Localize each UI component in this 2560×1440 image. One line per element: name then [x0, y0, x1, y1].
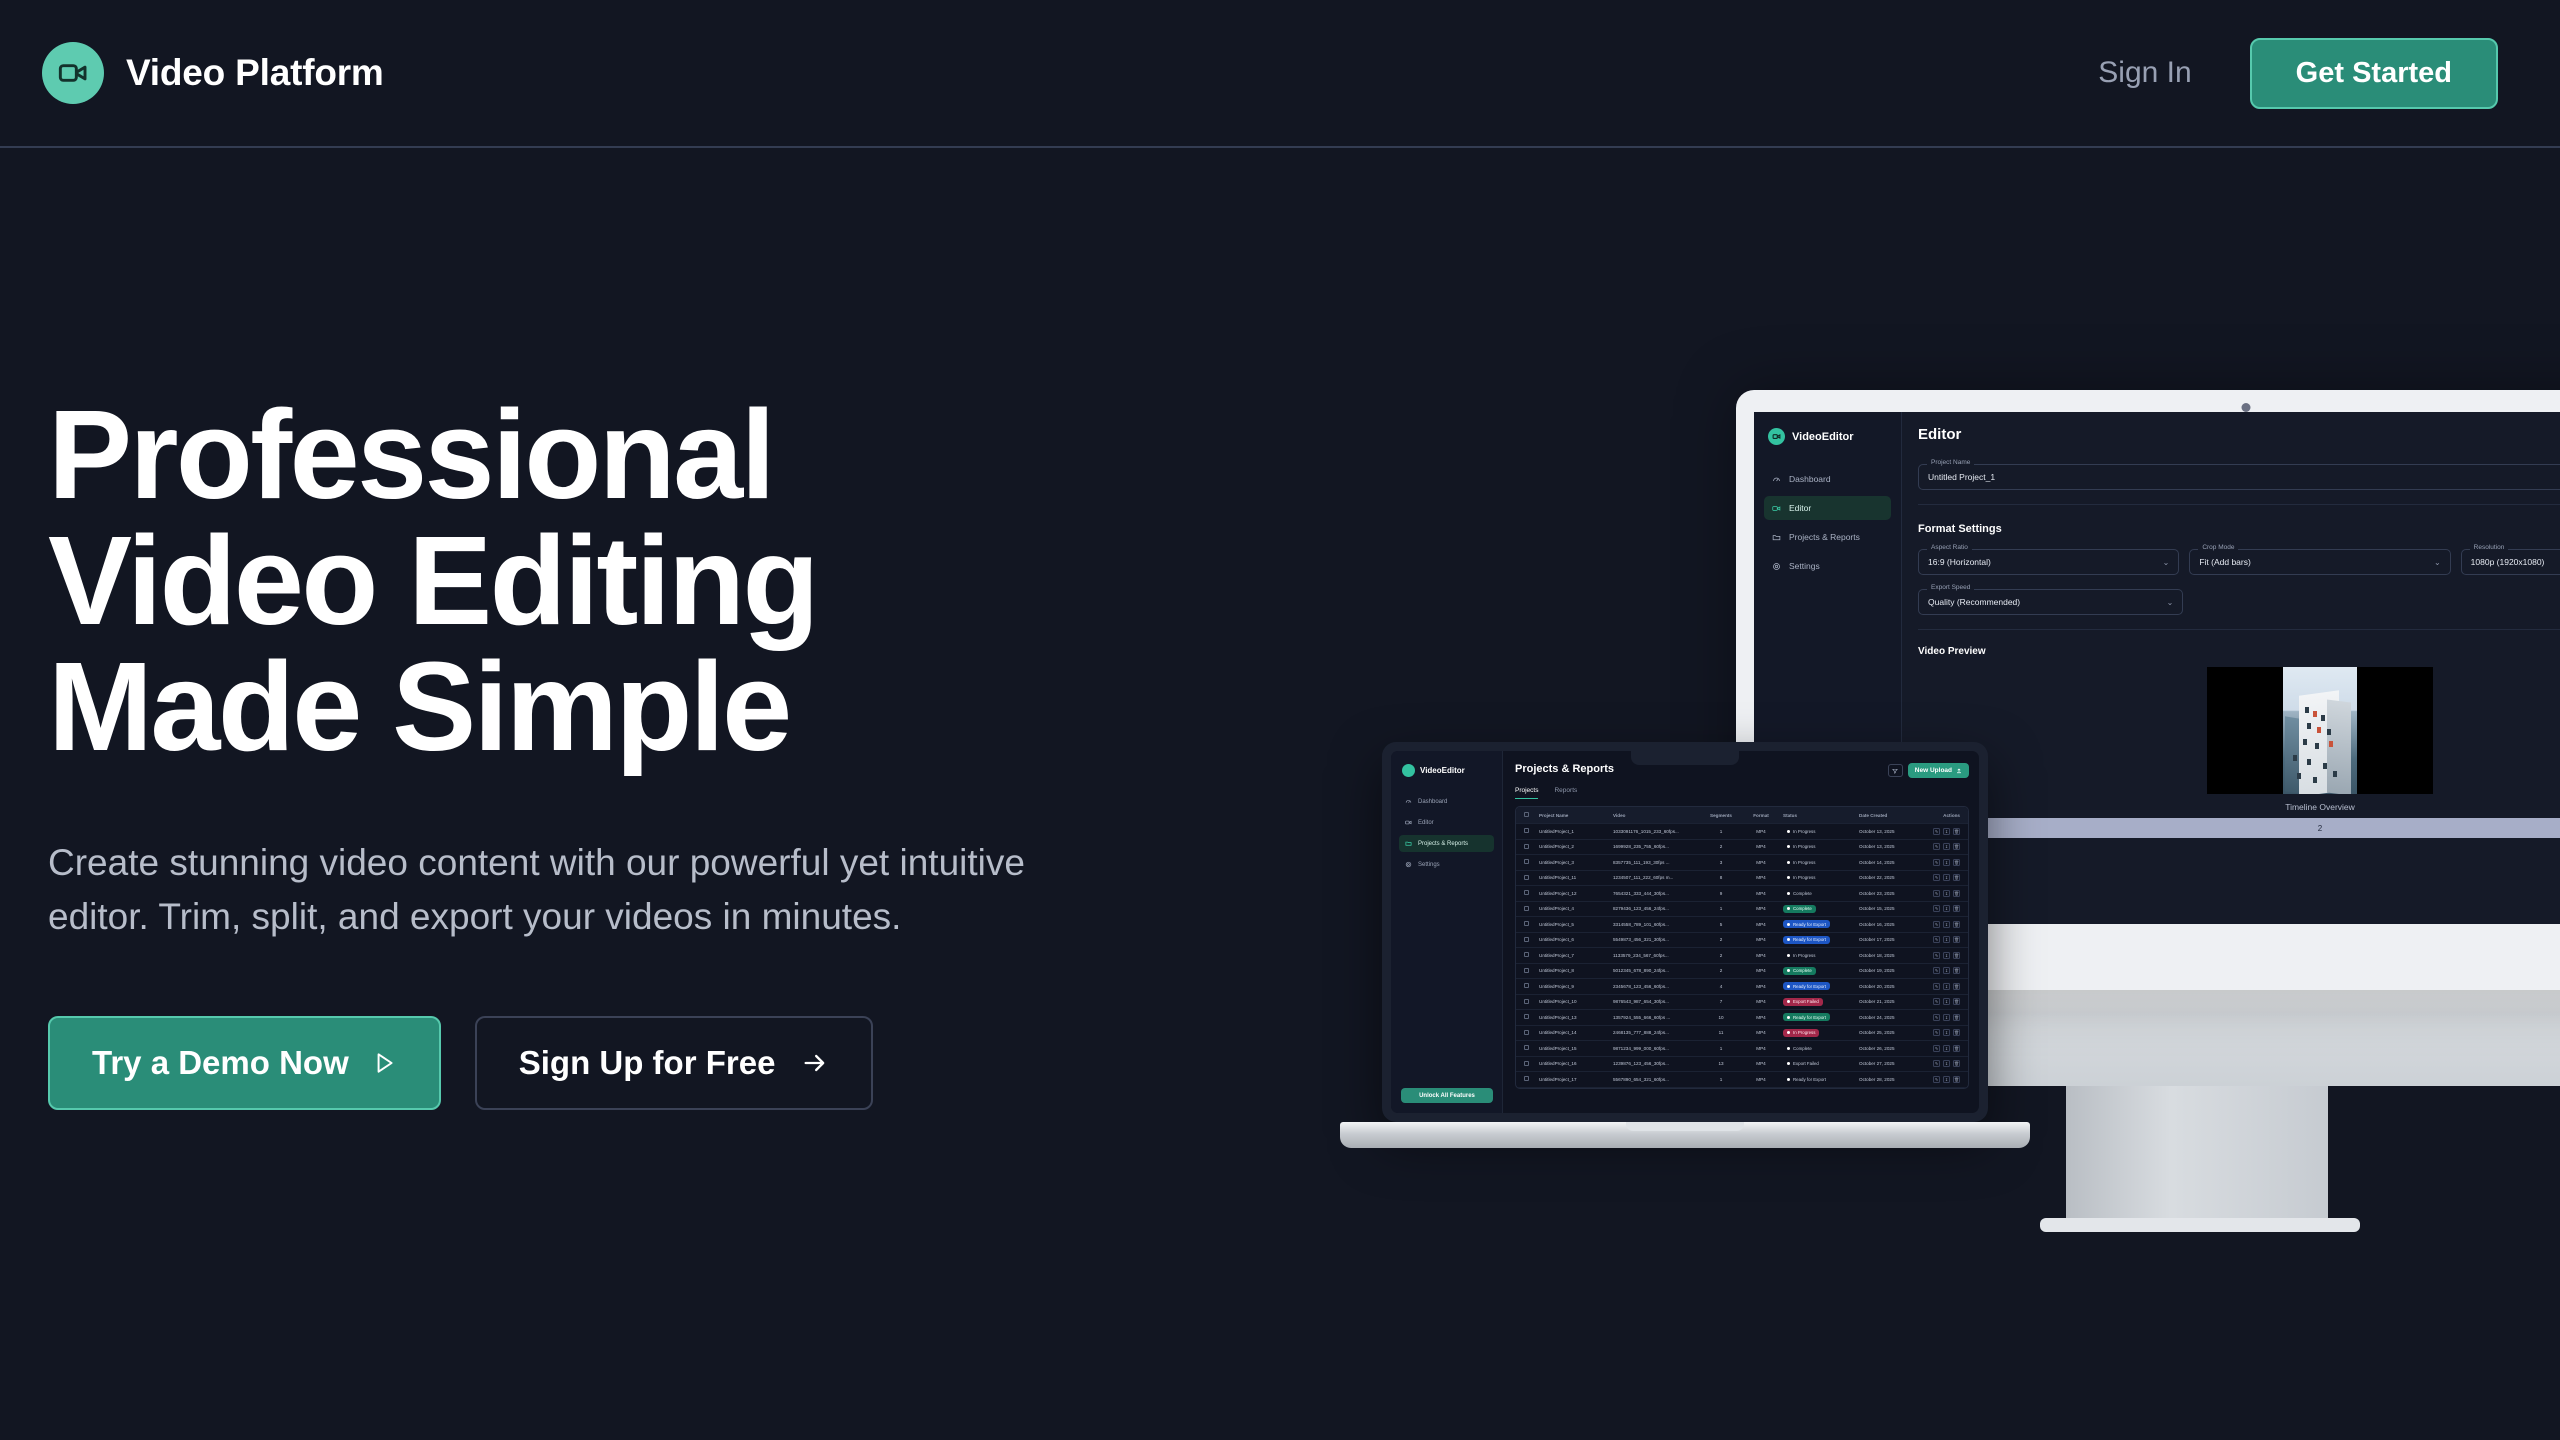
aspect-ratio-select[interactable]: Aspect Ratio 16:9 (Horizontal) ⌄	[1918, 549, 2179, 575]
edit-icon[interactable]: ✎	[1933, 967, 1940, 974]
cell-project-name: UntitledProject_6	[1536, 937, 1610, 942]
row-checkbox[interactable]	[1516, 1061, 1536, 1067]
cell-status: In Progress	[1780, 951, 1856, 959]
status-badge: Ready for Export	[1783, 920, 1830, 928]
cell-date-created: October 16, 2025	[1856, 922, 1918, 927]
table-row[interactable]: UntitledProject_38357735_111_193_30fps .…	[1516, 855, 1968, 871]
projects-tabs: Projects Reports	[1515, 787, 1969, 799]
cell-segments: 2	[1700, 968, 1742, 973]
cell-segments: 9	[1700, 891, 1742, 896]
cell-date-created: October 21, 2025	[1856, 999, 1918, 1004]
heading-line-2: Video Editing	[48, 518, 1228, 644]
laptop-base-notch	[1626, 1122, 1744, 1131]
cell-video: 1699928_235_755_60fps...	[1610, 844, 1700, 849]
cell-video: 2345678_123_456_60fps...	[1610, 984, 1700, 989]
upload-icon	[1956, 768, 1962, 774]
projects-sidebar: VideoEditor Dashboard	[1391, 751, 1503, 1113]
cell-status: In Progress	[1780, 843, 1856, 851]
table-row[interactable]: UntitledProject_111234507_111_222_60fps …	[1516, 871, 1968, 887]
row-checkbox[interactable]	[1516, 921, 1536, 927]
cell-date-created: October 23, 2025	[1856, 891, 1918, 896]
table-row[interactable]: UntitledProject_53314558_789_101_60fps..…	[1516, 917, 1968, 933]
editor-brand-name: VideoEditor	[1792, 431, 1854, 443]
download-icon[interactable]: ↧	[1943, 952, 1950, 959]
table-row[interactable]: UntitledProject_85012345_678_890_24fps..…	[1516, 964, 1968, 980]
resolution-label: Resolution	[2470, 544, 2509, 551]
cell-segments: 2	[1700, 844, 1742, 849]
cell-video: 1033091176_1015_233_60fps...	[1610, 829, 1700, 834]
download-icon[interactable]: ↧	[1943, 843, 1950, 850]
cell-date-created: October 14, 2025	[1856, 860, 1918, 865]
table-row[interactable]: UntitledProject_127654321_333_444_30fps.…	[1516, 886, 1968, 902]
export-speed-value: Quality (Recommended)	[1928, 597, 2020, 607]
row-checkbox[interactable]	[1516, 999, 1536, 1005]
edit-icon[interactable]: ✎	[1933, 828, 1940, 835]
cell-date-created: October 24, 2025	[1856, 1015, 1918, 1020]
cell-video: 3314558_789_101_60fps...	[1610, 922, 1700, 927]
download-icon[interactable]: ↧	[1943, 859, 1950, 866]
cell-status: In Progress	[1780, 827, 1856, 835]
edit-icon[interactable]: ✎	[1933, 874, 1940, 881]
cell-segments: 1	[1700, 829, 1742, 834]
trash-icon[interactable]: 🗑	[1953, 1060, 1960, 1067]
get-started-button[interactable]: Get Started	[2250, 38, 2498, 109]
table-row[interactable]: UntitledProject_131357924_555_666_60fps …	[1516, 1010, 1968, 1026]
cell-status: Ready for Export	[1780, 1075, 1856, 1083]
sidebar-label: Settings	[1789, 561, 1820, 571]
cell-status: Ready for Export	[1780, 920, 1856, 928]
cell-project-name: UntitledProject_14	[1536, 1030, 1610, 1035]
trash-icon[interactable]: 🗑	[1953, 998, 1960, 1005]
column-status[interactable]: Status	[1780, 813, 1856, 818]
edit-icon[interactable]: ✎	[1933, 936, 1940, 943]
table-row[interactable]: UntitledProject_175567890_654_321_60fps.…	[1516, 1072, 1968, 1088]
format-settings-row-1: Aspect Ratio 16:9 (Horizontal) ⌄ Crop Mo…	[1918, 535, 2560, 575]
status-badge: Ready for Export	[1783, 936, 1830, 944]
sidebar-label: Dashboard	[1418, 799, 1447, 805]
cell-format: MP4	[1742, 1077, 1780, 1082]
trash-icon[interactable]: 🗑	[1953, 890, 1960, 897]
column-video[interactable]: Video	[1610, 813, 1700, 818]
status-badge: In Progress	[1783, 874, 1819, 882]
cell-actions: ✎↧🗑	[1918, 998, 1964, 1005]
cell-actions: ✎↧🗑	[1918, 983, 1964, 990]
status-badge: In Progress	[1783, 827, 1819, 835]
download-icon[interactable]: ↧	[1943, 983, 1950, 990]
trash-icon[interactable]: 🗑	[1953, 1029, 1960, 1036]
trash-icon[interactable]: 🗑	[1953, 843, 1960, 850]
sidebar-item-dashboard[interactable]: Dashboard	[1764, 467, 1891, 491]
row-checkbox[interactable]	[1516, 844, 1536, 850]
cell-actions: ✎↧🗑	[1918, 1060, 1964, 1067]
cell-format: MP4	[1742, 953, 1780, 958]
cell-actions: ✎↧🗑	[1918, 921, 1964, 928]
download-icon[interactable]: ↧	[1943, 1014, 1950, 1021]
cell-actions: ✎↧🗑	[1918, 874, 1964, 881]
cell-segments: 1	[1700, 1046, 1742, 1051]
cell-format: MP4	[1742, 922, 1780, 927]
projects-page-title: Projects & Reports	[1515, 763, 1614, 775]
cell-date-created: October 22, 2025	[1856, 875, 1918, 880]
cell-project-name: UntitledProject_2	[1536, 844, 1610, 849]
table-row[interactable]: UntitledProject_92345678_123_456_60fps..…	[1516, 979, 1968, 995]
column-format[interactable]: Format	[1742, 813, 1780, 818]
cell-format: MP4	[1742, 860, 1780, 865]
laptop-notch	[1631, 751, 1739, 765]
gear-icon	[1772, 562, 1781, 571]
brand-name: Video Platform	[126, 52, 384, 94]
table-row[interactable]: UntitledProject_48279436_123_456_24fps..…	[1516, 902, 1968, 918]
status-badge: In Progress	[1783, 1029, 1819, 1037]
sign-in-link[interactable]: Sign In	[2098, 56, 2191, 90]
trash-icon[interactable]: 🗑	[1953, 1014, 1960, 1021]
video-camera-icon	[1768, 428, 1785, 445]
cell-status: Export Failed	[1780, 998, 1856, 1006]
cell-segments: 13	[1700, 1061, 1742, 1066]
cell-format: MP4	[1742, 1061, 1780, 1066]
select-all-checkbox[interactable]	[1516, 812, 1536, 818]
cell-status: Ready for Export	[1780, 1013, 1856, 1021]
folder-icon	[1772, 533, 1781, 542]
cell-format: MP4	[1742, 1030, 1780, 1035]
aspect-ratio-value: 16:9 (Horizontal)	[1928, 557, 1991, 567]
cell-actions: ✎↧🗑	[1918, 1076, 1964, 1083]
status-badge: Complete	[1783, 967, 1816, 975]
new-upload-label: New Upload	[1915, 767, 1952, 774]
trash-icon[interactable]: 🗑	[1953, 952, 1960, 959]
download-icon[interactable]: ↧	[1943, 874, 1950, 881]
cell-date-created: October 18, 2025	[1856, 953, 1918, 958]
edit-icon[interactable]: ✎	[1933, 1045, 1940, 1052]
crop-mode-label: Crop Mode	[2198, 544, 2238, 551]
cell-actions: ✎↧🗑	[1918, 952, 1964, 959]
cell-status: In Progress	[1780, 1029, 1856, 1037]
edit-icon[interactable]: ✎	[1933, 1060, 1940, 1067]
table-body: UntitledProject_11033091176_1015_233_60f…	[1516, 824, 1968, 1088]
row-checkbox[interactable]	[1516, 890, 1536, 896]
trash-icon[interactable]: 🗑	[1953, 828, 1960, 835]
trash-icon[interactable]: 🗑	[1953, 936, 1960, 943]
cell-project-name: UntitledProject_16	[1536, 1061, 1610, 1066]
cell-status: Complete	[1780, 1044, 1856, 1052]
cell-project-name: UntitledProject_5	[1536, 922, 1610, 927]
trash-icon[interactable]: 🗑	[1953, 874, 1960, 881]
status-badge: Export Failed	[1783, 1060, 1823, 1068]
table-row[interactable]: UntitledProject_21699928_235_755_60fps..…	[1516, 840, 1968, 856]
divider	[1918, 504, 2560, 505]
projects-table: Project Name Video Segments Format Statu…	[1515, 806, 1969, 1089]
hero-section: Professional Video Editing Made Simple C…	[48, 392, 1228, 1110]
export-speed-label: Export Speed	[1927, 584, 1974, 591]
projects-header-actions: New Upload	[1888, 763, 1969, 778]
table-row[interactable]: UntitledProject_159871234_999_000_60fps.…	[1516, 1041, 1968, 1057]
monitor-foot	[2040, 1218, 2360, 1232]
laptop-lid: VideoEditor Dashboard	[1382, 742, 1988, 1122]
cell-project-name: UntitledProject_8	[1536, 968, 1610, 973]
edit-icon[interactable]: ✎	[1933, 905, 1940, 912]
sidebar-label: Projects & Reports	[1789, 532, 1860, 542]
cell-actions: ✎↧🗑	[1918, 936, 1964, 943]
edit-icon[interactable]: ✎	[1933, 1014, 1940, 1021]
cell-project-name: UntitledProject_1	[1536, 829, 1610, 834]
tab-reports[interactable]: Reports	[1554, 787, 1577, 799]
row-checkbox[interactable]	[1516, 875, 1536, 881]
cell-project-name: UntitledProject_9	[1536, 984, 1610, 989]
row-checkbox[interactable]	[1516, 1030, 1536, 1036]
cell-format: MP4	[1742, 844, 1780, 849]
project-name-label: Project Name	[1927, 459, 1974, 466]
editor-nav: Dashboard Editor Projects	[1764, 467, 1891, 578]
download-icon[interactable]: ↧	[1943, 890, 1950, 897]
table-row[interactable]: UntitledProject_109876543_987_654_30fps.…	[1516, 995, 1968, 1011]
column-date-created[interactable]: Date Created	[1856, 813, 1918, 818]
format-settings-row-2: Export Speed Quality (Recommended) ⌄	[1918, 575, 2560, 615]
row-checkbox[interactable]	[1516, 1014, 1536, 1020]
project-name-field[interactable]: Project Name Untitled Project_1	[1918, 464, 2560, 490]
cell-actions: ✎↧🗑	[1918, 890, 1964, 897]
table-header-row: Project Name Video Segments Format Statu…	[1516, 807, 1968, 824]
cell-format: MP4	[1742, 875, 1780, 880]
download-icon[interactable]: ↧	[1943, 967, 1950, 974]
brand-logo-group[interactable]: Video Platform	[42, 42, 384, 104]
editor-topbar: Editor Save Exp	[1918, 426, 2560, 450]
cell-segments: 8	[1700, 875, 1742, 880]
cell-video: 7654321_333_444_30fps...	[1610, 891, 1700, 896]
download-icon[interactable]: ↧	[1943, 921, 1950, 928]
cell-actions: ✎↧🗑	[1918, 843, 1964, 850]
status-badge: Export Failed	[1783, 998, 1823, 1006]
cell-format: MP4	[1742, 999, 1780, 1004]
trash-icon[interactable]: 🗑	[1953, 859, 1960, 866]
cell-actions: ✎↧🗑	[1918, 859, 1964, 866]
crop-mode-select[interactable]: Crop Mode Fit (Add bars) ⌄	[2189, 549, 2450, 575]
status-badge: Complete	[1783, 905, 1816, 913]
row-checkbox[interactable]	[1516, 952, 1536, 958]
chevron-down-icon: ⌄	[2434, 558, 2441, 567]
cell-date-created: October 13, 2025	[1856, 829, 1918, 834]
cell-date-created: October 25, 2025	[1856, 1030, 1918, 1035]
laptop-base	[1340, 1122, 2030, 1148]
divider	[1918, 629, 2560, 630]
chevron-down-icon: ⌄	[2167, 598, 2174, 607]
cell-video: 2468135_777_888_24fps...	[1610, 1030, 1700, 1035]
edit-icon[interactable]: ✎	[1933, 952, 1940, 959]
table-row[interactable]: UntitledProject_65549873_456_321_30fps..…	[1516, 933, 1968, 949]
cell-video: 5549873_456_321_30fps...	[1610, 937, 1700, 942]
sidebar-label: Projects & Reports	[1418, 841, 1468, 847]
video-preview-title: Video Preview	[1918, 646, 1986, 657]
cell-status: Complete	[1780, 905, 1856, 913]
try-demo-label: Try a Demo Now	[92, 1044, 349, 1082]
trash-icon[interactable]: 🗑	[1953, 1076, 1960, 1083]
cell-status: Ready for Export	[1780, 936, 1856, 944]
table-row[interactable]: UntitledProject_11033091176_1015_233_60f…	[1516, 824, 1968, 840]
cell-project-name: UntitledProject_12	[1536, 891, 1610, 896]
row-checkbox[interactable]	[1516, 906, 1536, 912]
row-checkbox[interactable]	[1516, 828, 1536, 834]
sidebar-item-editor[interactable]: Editor	[1399, 814, 1494, 831]
sidebar-item-editor[interactable]: Editor	[1764, 496, 1891, 520]
site-header: Video Platform Sign In Get Started	[0, 0, 2560, 148]
cell-date-created: October 28, 2025	[1856, 1077, 1918, 1082]
cell-status: Complete	[1780, 889, 1856, 897]
download-icon[interactable]: ↧	[1943, 1076, 1950, 1083]
edit-icon[interactable]: ✎	[1933, 890, 1940, 897]
video-camera-icon	[1772, 504, 1781, 513]
cell-video: 8279436_123_456_24fps...	[1610, 906, 1700, 911]
sidebar-label: Editor	[1789, 503, 1811, 513]
sidebar-item-dashboard[interactable]: Dashboard	[1399, 793, 1494, 810]
status-badge: Complete	[1783, 1044, 1816, 1052]
video-camera-icon	[1405, 819, 1412, 826]
trash-icon[interactable]: 🗑	[1953, 905, 1960, 912]
video-frame-image	[2283, 667, 2357, 794]
sidebar-label: Settings	[1418, 862, 1440, 868]
cell-date-created: October 17, 2025	[1856, 937, 1918, 942]
cell-status: In Progress	[1780, 858, 1856, 866]
cell-format: MP4	[1742, 891, 1780, 896]
cell-segments: 11	[1700, 1030, 1742, 1035]
projects-app-screen: VideoEditor Dashboard	[1391, 751, 1979, 1113]
download-icon[interactable]: ↧	[1943, 936, 1950, 943]
subtitle-line-1: Create stunning video content with our p…	[48, 836, 1133, 890]
cell-video: 8357735_111_193_30fps ...	[1610, 860, 1700, 865]
cta-row: Try a Demo Now Sign Up for Free	[48, 1016, 1228, 1110]
cell-actions: ✎↧🗑	[1918, 967, 1964, 974]
cell-actions: ✎↧🗑	[1918, 1045, 1964, 1052]
column-actions: Actions	[1918, 813, 1964, 818]
status-badge: In Progress	[1783, 951, 1819, 959]
status-badge: Ready for Export	[1783, 982, 1830, 990]
resolution-select[interactable]: Resolution 1080p (1920x1080) ⌄	[2461, 549, 2560, 575]
sidebar-item-settings[interactable]: Settings	[1764, 554, 1891, 578]
edit-icon[interactable]: ✎	[1933, 983, 1940, 990]
play-triangle-icon	[371, 1050, 397, 1076]
cell-video: 1133579_234_567_60fps...	[1610, 953, 1700, 958]
cell-video: 1239876_123_456_30fps...	[1610, 1061, 1700, 1066]
sign-up-label: Sign Up for Free	[519, 1044, 776, 1082]
trash-icon[interactable]: 🗑	[1953, 967, 1960, 974]
download-icon[interactable]: ↧	[1943, 905, 1950, 912]
new-upload-button[interactable]: New Upload	[1908, 763, 1969, 778]
format-settings-title: Format Settings	[1918, 523, 2560, 535]
download-icon[interactable]: ↧	[1943, 1045, 1950, 1052]
row-checkbox[interactable]	[1516, 968, 1536, 974]
cell-video: 5012345_678_890_24fps...	[1610, 968, 1700, 973]
edit-icon[interactable]: ✎	[1933, 843, 1940, 850]
cell-format: MP4	[1742, 984, 1780, 989]
edit-icon[interactable]: ✎	[1933, 1076, 1940, 1083]
row-checkbox[interactable]	[1516, 1076, 1536, 1082]
cell-project-name: UntitledProject_13	[1536, 1015, 1610, 1020]
heading-line-1: Professional	[48, 392, 1228, 518]
row-checkbox[interactable]	[1516, 937, 1536, 943]
monitor-stand	[2066, 1086, 2328, 1226]
cell-segments: 1	[1700, 906, 1742, 911]
editor-page-title: Editor	[1918, 426, 1961, 443]
cell-project-name: UntitledProject_10	[1536, 999, 1610, 1004]
cell-actions: ✎↧🗑	[1918, 1029, 1964, 1036]
sidebar-item-projects-reports[interactable]: Projects & Reports	[1764, 525, 1891, 549]
cell-project-name: UntitledProject_15	[1536, 1046, 1610, 1051]
row-checkbox[interactable]	[1516, 983, 1536, 989]
cell-segments: 4	[1700, 984, 1742, 989]
cell-format: MP4	[1742, 906, 1780, 911]
sidebar-item-projects-reports[interactable]: Projects & Reports	[1399, 835, 1494, 852]
hero-subtitle: Create stunning video content with our p…	[48, 836, 1133, 944]
edit-icon[interactable]: ✎	[1933, 1029, 1940, 1036]
table-row[interactable]: UntitledProject_161239876_123_456_30fps.…	[1516, 1057, 1968, 1073]
cell-status: In Progress	[1780, 874, 1856, 882]
gauge-icon	[1772, 475, 1781, 484]
cell-date-created: October 20, 2025	[1856, 984, 1918, 989]
cell-format: MP4	[1742, 968, 1780, 973]
gauge-icon	[1405, 798, 1412, 805]
edit-icon[interactable]: ✎	[1933, 998, 1940, 1005]
trash-icon[interactable]: 🗑	[1953, 1045, 1960, 1052]
column-segments[interactable]: Segments	[1700, 813, 1742, 818]
filter-icon[interactable]	[1888, 764, 1903, 777]
column-project-name[interactable]: Project Name	[1536, 813, 1610, 818]
gear-icon	[1405, 861, 1412, 868]
status-badge: In Progress	[1783, 858, 1819, 866]
cell-format: MP4	[1742, 1046, 1780, 1051]
cell-actions: ✎↧🗑	[1918, 1014, 1964, 1021]
trash-icon[interactable]: 🗑	[1953, 921, 1960, 928]
projects-header: Projects & Reports New Upload	[1515, 763, 1969, 778]
cell-video: 9871234_999_000_60fps...	[1610, 1046, 1700, 1051]
tab-projects[interactable]: Projects	[1515, 787, 1538, 799]
sidebar-label: Editor	[1418, 820, 1434, 826]
sign-up-free-button[interactable]: Sign Up for Free	[475, 1016, 874, 1110]
trash-icon[interactable]: 🗑	[1953, 983, 1960, 990]
table-row[interactable]: UntitledProject_71133579_234_567_60fps..…	[1516, 948, 1968, 964]
resolution-value: 1080p (1920x1080)	[2471, 557, 2545, 567]
cell-segments: 10	[1700, 1015, 1742, 1020]
download-icon[interactable]: ↧	[1943, 828, 1950, 835]
video-player[interactable]	[2207, 667, 2433, 794]
arrow-right-icon	[801, 1049, 829, 1077]
aspect-ratio-label: Aspect Ratio	[1927, 544, 1972, 551]
sidebar-item-settings[interactable]: Settings	[1399, 856, 1494, 873]
cell-actions: ✎↧🗑	[1918, 828, 1964, 835]
edit-icon[interactable]: ✎	[1933, 859, 1940, 866]
cell-status: Complete	[1780, 967, 1856, 975]
project-name-value: Untitled Project_1	[1928, 472, 1995, 482]
video-preview-header: Video Preview Video player size	[1918, 646, 2560, 657]
download-icon[interactable]: ↧	[1943, 1060, 1950, 1067]
download-icon[interactable]: ↧	[1943, 998, 1950, 1005]
try-demo-button[interactable]: Try a Demo Now	[48, 1016, 441, 1110]
download-icon[interactable]: ↧	[1943, 1029, 1950, 1036]
cell-date-created: October 27, 2025	[1856, 1061, 1918, 1066]
projects-main: Projects & Reports New Upload	[1503, 751, 1979, 1113]
cell-segments: 7	[1700, 999, 1742, 1004]
header-actions: Sign In Get Started	[2098, 38, 2498, 109]
cell-date-created: October 19, 2025	[1856, 968, 1918, 973]
edit-icon[interactable]: ✎	[1933, 921, 1940, 928]
cell-project-name: UntitledProject_17	[1536, 1077, 1610, 1082]
unlock-all-features-button[interactable]: Unlock All Features	[1401, 1088, 1493, 1103]
table-row[interactable]: UntitledProject_142468135_777_888_24fps.…	[1516, 1026, 1968, 1042]
cell-date-created: October 15, 2025	[1856, 906, 1918, 911]
export-speed-select[interactable]: Export Speed Quality (Recommended) ⌄	[1918, 589, 2183, 615]
row-checkbox[interactable]	[1516, 859, 1536, 865]
cell-video: 5567890_654_321_60fps...	[1610, 1077, 1700, 1082]
row-checkbox[interactable]	[1516, 1045, 1536, 1051]
folder-icon	[1405, 840, 1412, 847]
sidebar-label: Dashboard	[1789, 474, 1831, 484]
